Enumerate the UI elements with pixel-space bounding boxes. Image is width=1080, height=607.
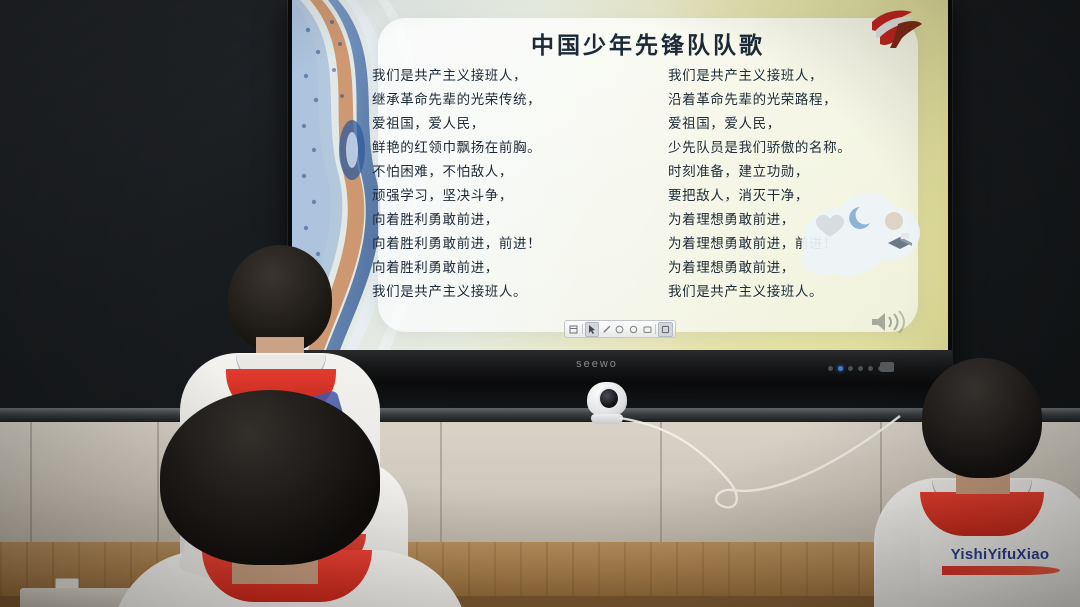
device-brand-label: seewo xyxy=(562,358,632,371)
toolbar-separator xyxy=(655,324,656,334)
camera-lens xyxy=(598,387,620,410)
ptz-classroom-camera xyxy=(583,378,631,428)
slide-title: 中国少年先锋队队歌 xyxy=(378,26,918,60)
camera-base xyxy=(591,414,623,424)
lyric-line: 继承革命先辈的光荣传统， xyxy=(372,90,636,111)
lyric-column-verse-1: 我们是共产主义接班人， 继承革命先辈的光荣传统， 爱祖国，爱人民， 鲜艳的红领巾… xyxy=(372,66,636,316)
shape-tool-icon[interactable] xyxy=(627,323,640,336)
indicator-dot xyxy=(858,366,863,371)
blackboard-seam-right xyxy=(952,0,953,420)
young-pioneers-flame-logo xyxy=(868,6,924,50)
smartboard-screen[interactable]: 中国少年先锋队队歌 我们是共产主义接班人， 继承革命先辈的光荣传统， 爱祖国，爱… xyxy=(292,0,948,350)
presentation-slide: 中国少年先锋队队歌 我们是共产主义接班人， 继承革命先辈的光荣传统， 爱祖国，爱… xyxy=(292,0,948,350)
lyric-line: 爱祖国，爱人民， xyxy=(668,114,932,135)
lyric-line: 时刻准备，建立功勋， xyxy=(668,162,932,183)
lyric-line: 顽强学习，坚决斗争， xyxy=(372,186,636,207)
lyric-line: 我们是共产主义接班人， xyxy=(372,66,636,87)
indicator-dot xyxy=(848,366,853,371)
indicator-dot xyxy=(868,366,873,371)
shirt-printed-text: YishiYifuXiao xyxy=(916,546,1080,563)
lyric-line: 鲜艳的红领巾飘扬在前胸。 xyxy=(372,138,636,159)
eraser-tool-icon[interactable] xyxy=(614,323,627,336)
more-tool-icon[interactable] xyxy=(658,322,673,337)
uniform-sleeve xyxy=(876,508,920,606)
student-foreground-center xyxy=(120,390,460,607)
annotation-toolbar[interactable] xyxy=(564,320,676,338)
lyric-line: 不怕困难，不怕敌人， xyxy=(372,162,636,183)
student-head xyxy=(160,390,380,565)
cabinet-seam xyxy=(660,422,662,542)
classroom-photo: 中国少年先锋队队歌 我们是共产主义接班人， 继承革命先辈的光荣传统， 爱祖国，爱… xyxy=(0,0,1080,607)
lyric-line: 我们是共产主义接班人。 xyxy=(372,282,636,303)
shirt-red-swoosh xyxy=(942,566,1060,575)
lyric-line: 爱祖国，爱人民， xyxy=(372,114,636,135)
lyric-line: 向着胜利勇敢前进，前进！ xyxy=(372,234,636,255)
toolbar-separator xyxy=(582,324,583,334)
lyric-line: 我们是共产主义接班人， xyxy=(668,66,932,87)
power-led xyxy=(838,366,843,371)
cabinet-seam xyxy=(30,422,32,542)
lyric-line: 向着胜利勇敢前进， xyxy=(372,210,636,231)
page-tool-icon[interactable] xyxy=(567,323,580,336)
frame-tool-icon[interactable] xyxy=(641,323,654,336)
cloud-graphic xyxy=(802,185,934,289)
cursor-select-tool-icon[interactable] xyxy=(585,322,600,337)
student-head xyxy=(922,358,1042,478)
pen-tool-icon[interactable] xyxy=(600,323,613,336)
speaker-volume-icon xyxy=(870,310,912,334)
student-right: YishiYifuXiao xyxy=(880,358,1080,607)
indicator-dot xyxy=(828,366,833,371)
lyric-line: 沿着革命先辈的光荣路程， xyxy=(668,90,932,111)
lyric-line: 向着胜利勇敢前进， xyxy=(372,258,636,279)
lyric-line: 少先队员是我们骄傲的名称。 xyxy=(668,138,932,159)
